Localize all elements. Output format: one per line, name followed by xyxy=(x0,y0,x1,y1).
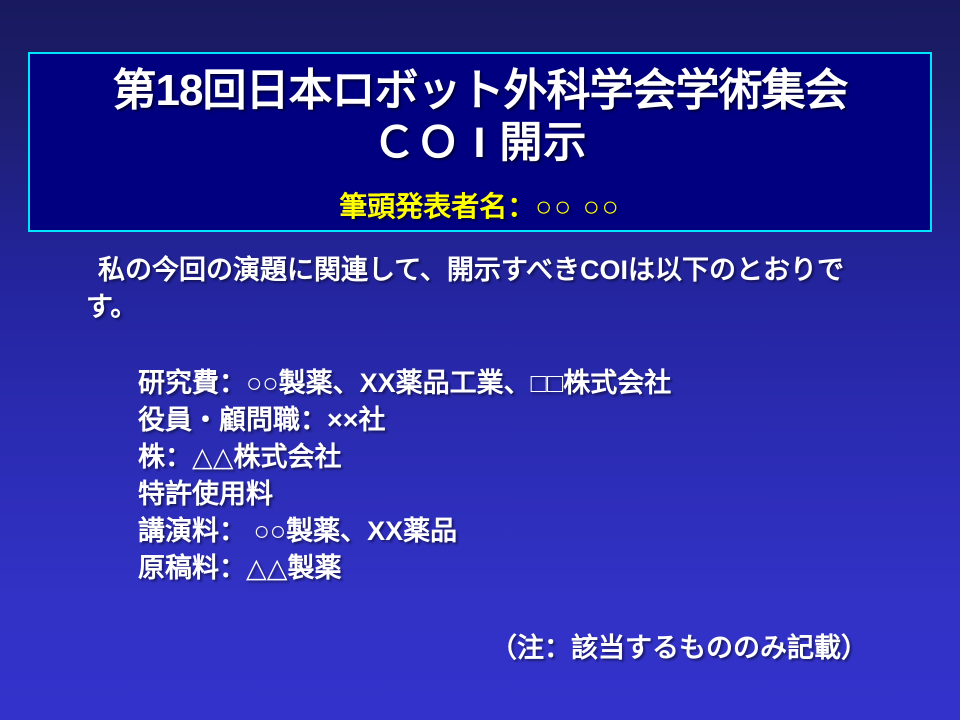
list-item: 特許使用料 xyxy=(138,476,671,513)
presenter-label: 筆頭発表者名： xyxy=(339,191,535,222)
list-item: 研究費：○○製薬、XX薬品工業、□□株式会社 xyxy=(138,365,671,402)
title-line-1: 第18回日本ロボット外科学会学術集会 xyxy=(30,66,930,116)
list-item: 講演料： ○○製薬、XX薬品 xyxy=(138,513,671,550)
presenter-name: ○○ ○○ xyxy=(535,191,620,222)
list-item: 株：△△株式会社 xyxy=(138,439,671,476)
footnote: （注：該当するもののみ記載） xyxy=(0,630,868,666)
intro-paragraph: 私の今回の演題に関連して、開示すべきCOIは以下のとおりです。 xyxy=(86,252,886,326)
title-line-2: ＣＯ I 開示 xyxy=(30,118,930,168)
coi-disclosure-list: 研究費：○○製薬、XX薬品工業、□□株式会社 役員・顧問職：××社 株：△△株式… xyxy=(138,365,671,587)
list-item: 役員・顧問職：××社 xyxy=(138,402,671,439)
list-item: 原稿料：△△製薬 xyxy=(138,550,671,587)
slide-canvas: 第18回日本ロボット外科学会学術集会 ＣＯ I 開示 筆頭発表者名：○○ ○○ … xyxy=(0,0,960,720)
title-box: 第18回日本ロボット外科学会学術集会 ＣＯ I 開示 筆頭発表者名：○○ ○○ xyxy=(28,52,932,232)
presenter-line: 筆頭発表者名：○○ ○○ xyxy=(30,190,930,224)
